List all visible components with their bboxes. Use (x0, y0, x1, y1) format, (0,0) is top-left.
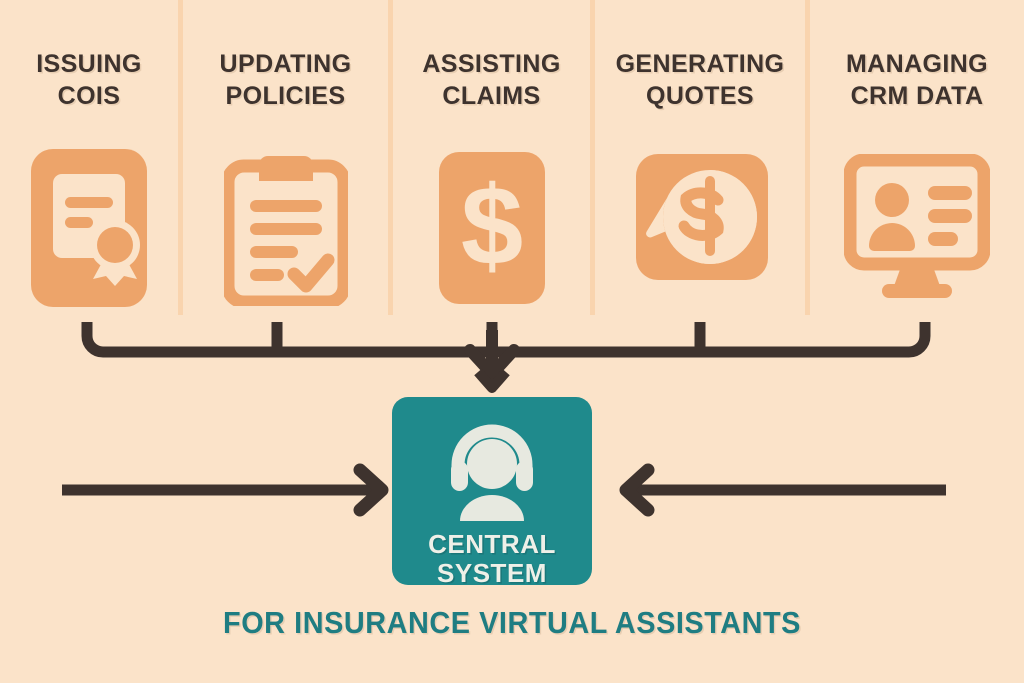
column-heading-issuing-cois: ISSUING COIS (0, 48, 178, 112)
central-system-label: CENTRAL SYSTEM (428, 530, 556, 587)
column-heading-updating-policies: UPDATING POLICIES (183, 48, 388, 112)
heading-line-2: QUOTES (595, 80, 805, 112)
monitor-contact-icon (810, 148, 1024, 308)
arrow-right-icon (62, 470, 382, 510)
page-caption: FOR INSURANCE VIRTUAL ASSISTANTS (36, 605, 988, 641)
column-heading-managing-crm-data: MANAGING CRM DATA (810, 48, 1024, 112)
heading-line-2: COIS (0, 80, 178, 112)
headset-agent-icon (440, 417, 544, 526)
heading-line-2: CLAIMS (393, 80, 590, 112)
arrow-down-icon (470, 330, 514, 388)
certificate-icon (0, 148, 178, 308)
bracket-manifold-connector (87, 322, 925, 352)
column-heading-assisting-claims: ASSISTING CLAIMS (393, 48, 590, 112)
heading-line-1: ISSUING (0, 48, 178, 80)
heading-line-1: ASSISTING (393, 48, 590, 80)
dollar-card-icon: $ (393, 148, 590, 308)
column-heading-generating-quotes: GENERATING QUOTES (595, 48, 805, 112)
heading-line-1: GENERATING (595, 48, 805, 80)
svg-text:$: $ (460, 163, 522, 288)
heading-line-2: POLICIES (183, 80, 388, 112)
arrow-left-icon (626, 470, 946, 510)
infographic-canvas: ISSUING COIS UPDATING POLICIES ASS (0, 0, 1024, 683)
heading-line-1: MANAGING (810, 48, 1024, 80)
heading-line-2: CRM DATA (810, 80, 1024, 112)
central-label-line-1: CENTRAL (428, 530, 556, 559)
central-system-card: CENTRAL SYSTEM (392, 397, 592, 585)
dollar-speech-bubble-icon (595, 148, 805, 308)
central-label-line-2: SYSTEM (428, 559, 556, 588)
clipboard-checklist-icon (183, 148, 388, 308)
heading-line-1: UPDATING (183, 48, 388, 80)
